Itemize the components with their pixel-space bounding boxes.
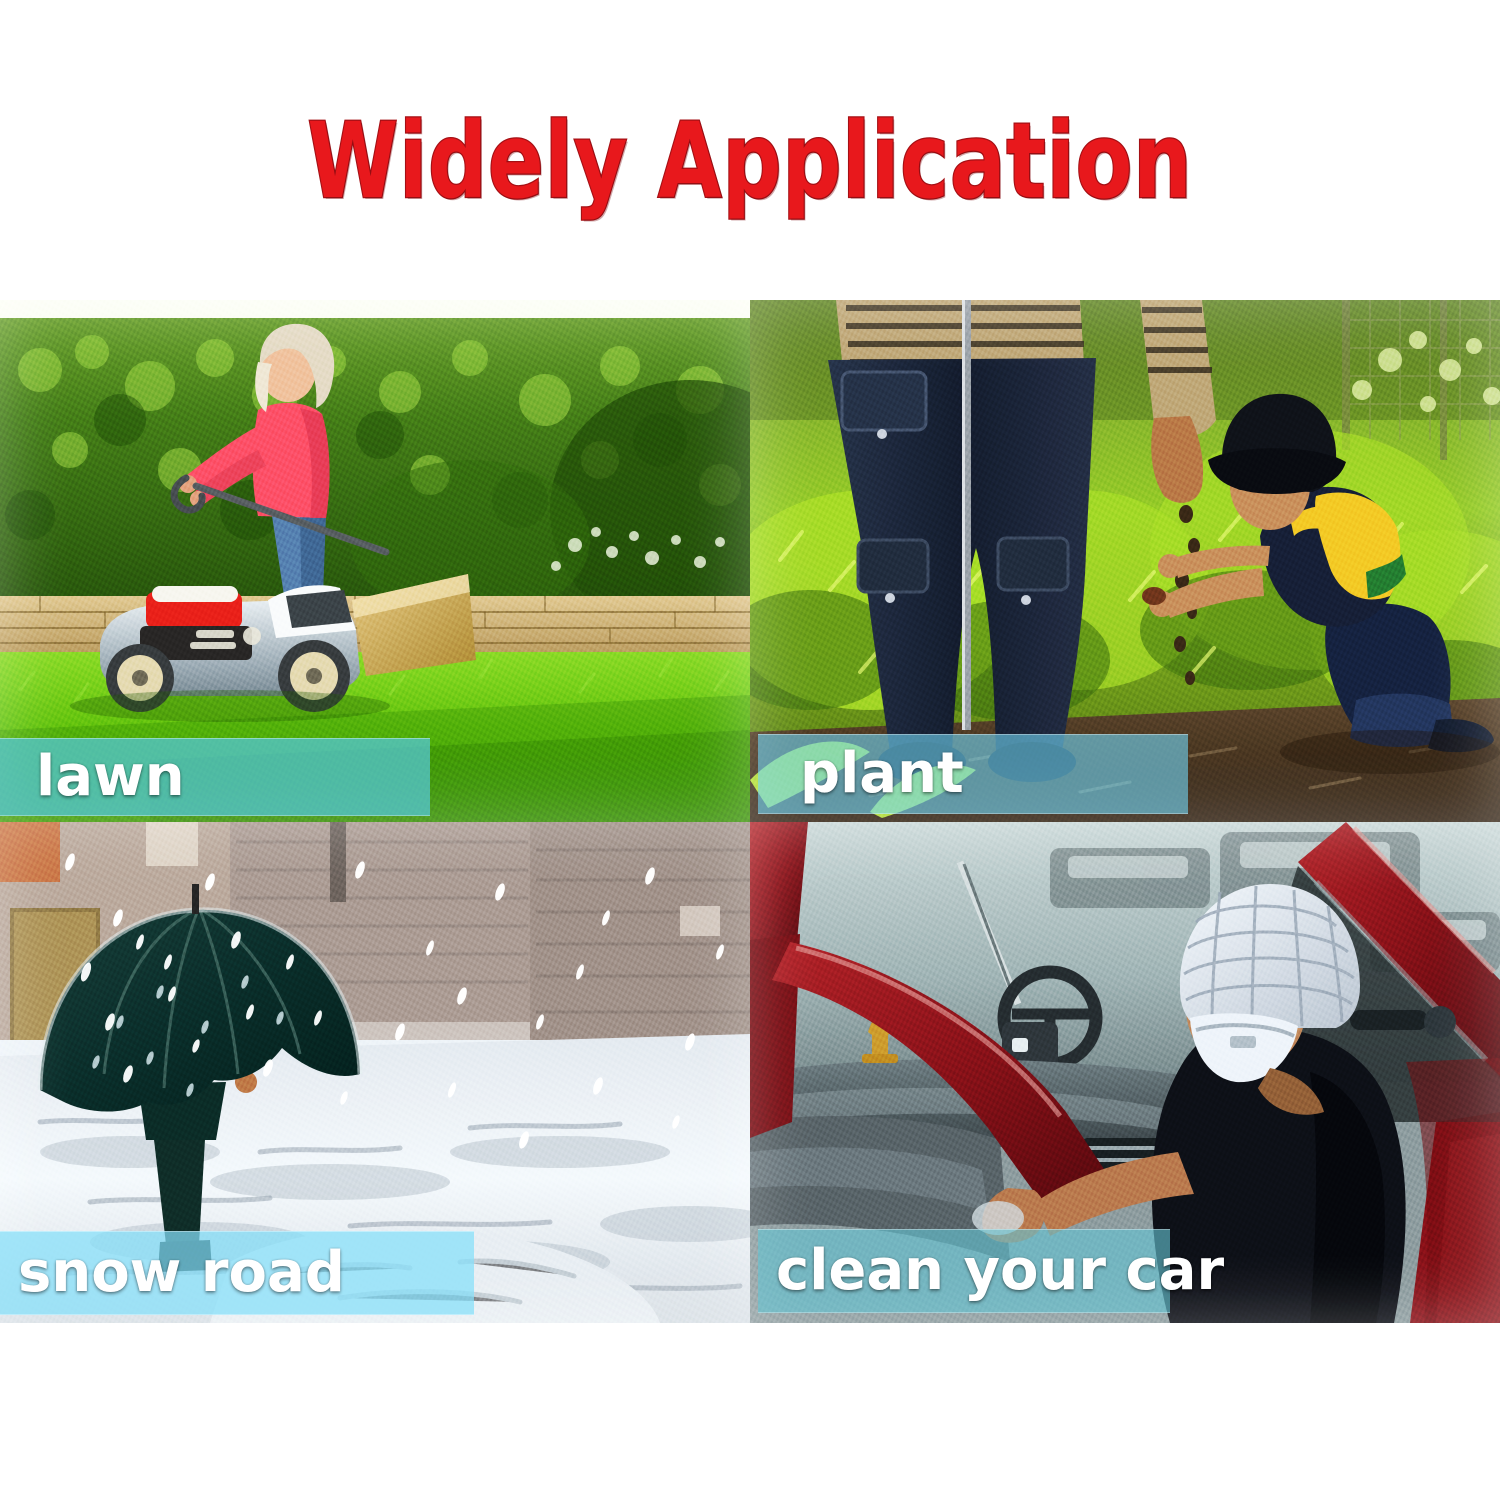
panel-clean-your-car[interactable]: clean your car (750, 822, 1500, 1323)
application-collage: lawn (0, 300, 1500, 1323)
page-header: Widely Application (0, 0, 1500, 300)
panel-lawn[interactable]: lawn (0, 300, 750, 822)
label-bar-clean-your-car: clean your car (758, 1229, 1170, 1313)
page-title: Widely Application (307, 100, 1192, 222)
label-bar-lawn: lawn (0, 738, 430, 816)
label-text-clean-your-car: clean your car (776, 1243, 1224, 1299)
label-text-lawn: lawn (36, 749, 185, 805)
label-bar-plant: plant (758, 734, 1188, 814)
panel-snow-road[interactable]: snow road (0, 822, 750, 1323)
label-bar-snow-road: snow road (0, 1231, 474, 1315)
panel-plant[interactable]: plant (750, 300, 1500, 822)
label-text-snow-road: snow road (18, 1245, 345, 1301)
label-text-plant: plant (800, 746, 964, 802)
